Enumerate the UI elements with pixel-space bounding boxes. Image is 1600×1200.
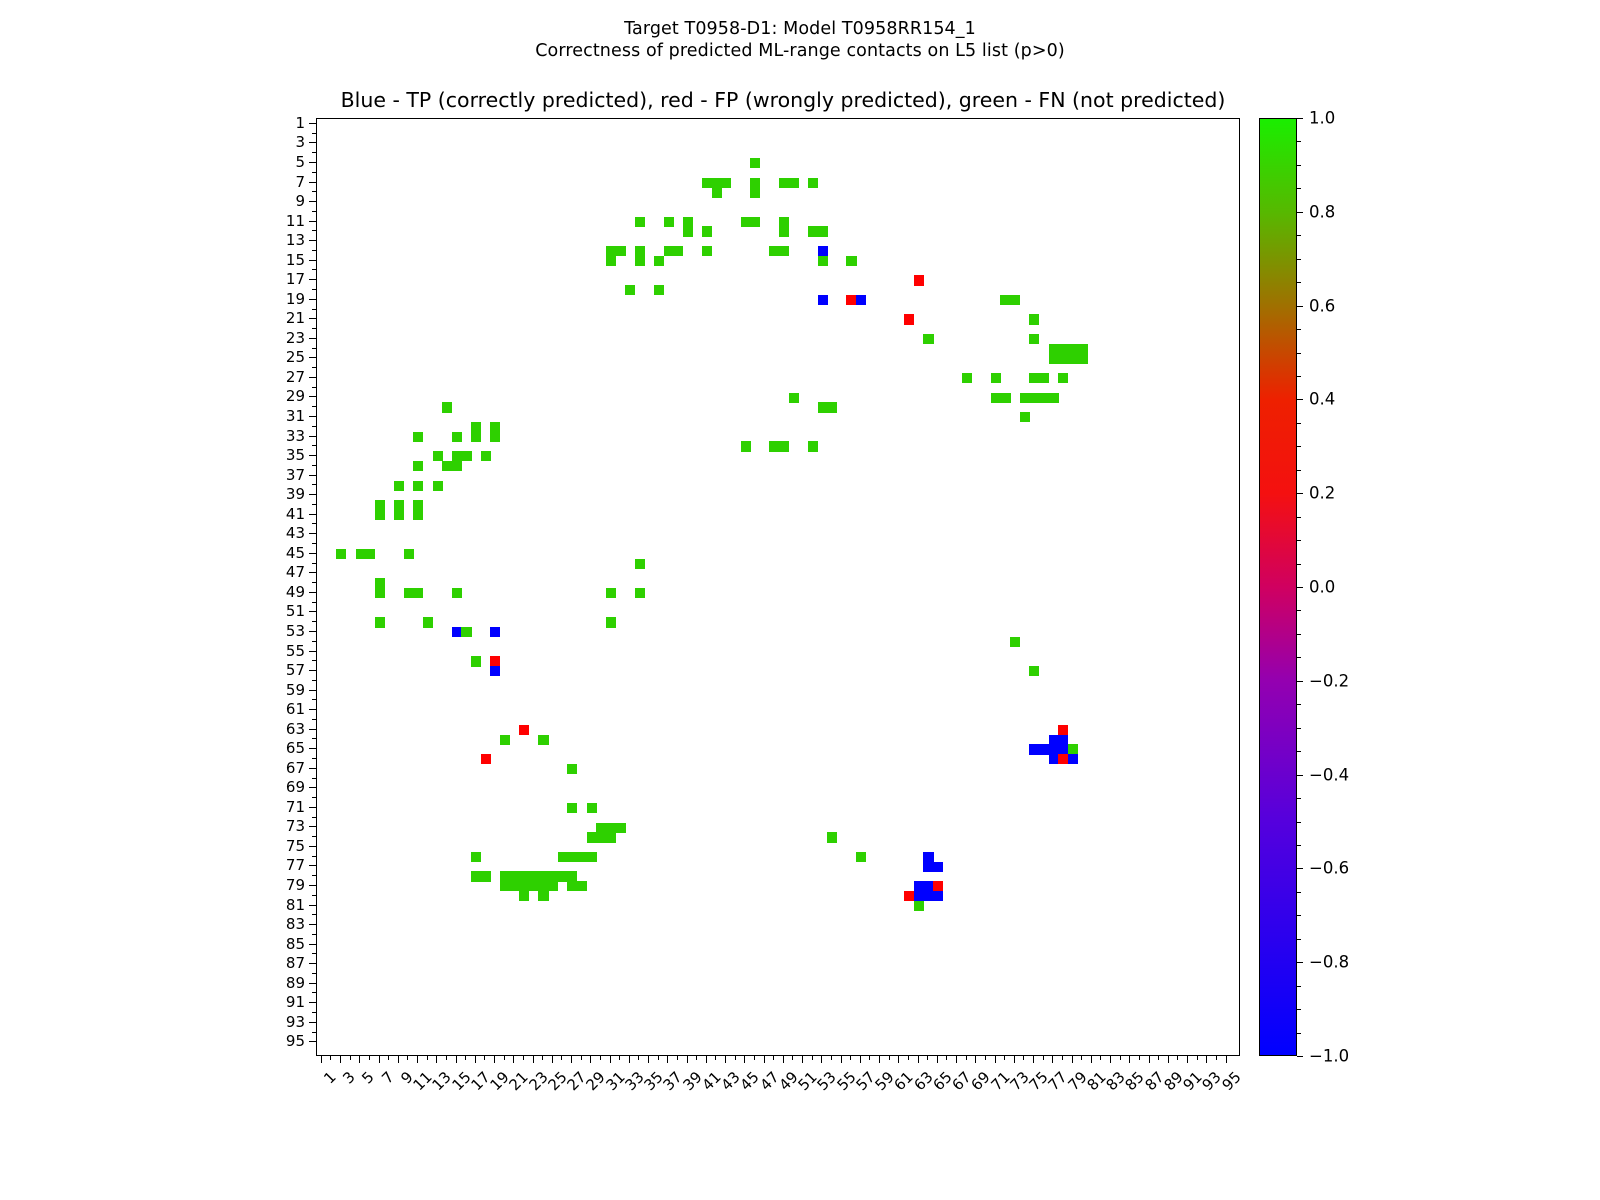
colorbar-tick-label: −0.6	[1309, 859, 1349, 878]
contact-cell-fn	[567, 764, 577, 774]
contact-cell-fn	[750, 217, 760, 227]
x-tick	[879, 1056, 880, 1063]
colorbar-tick	[1297, 306, 1303, 307]
contact-cell-fn	[481, 871, 491, 881]
y-tick	[312, 406, 316, 407]
colorbar-tick	[1297, 587, 1303, 588]
y-tick-label: 91	[286, 993, 305, 1011]
colorbar-tick	[1297, 141, 1301, 142]
y-tick	[309, 494, 316, 495]
x-tick-label: 5	[359, 1068, 378, 1087]
x-tick	[975, 1056, 976, 1063]
y-tick	[312, 836, 316, 837]
x-tick	[735, 1056, 736, 1060]
contact-cell-fn	[538, 891, 548, 901]
contact-cell-fn	[394, 500, 404, 510]
y-tick-label: 37	[286, 466, 305, 484]
y-tick-label: 27	[286, 368, 305, 386]
contact-cell-tp	[1058, 744, 1068, 754]
x-tick	[542, 1056, 543, 1060]
x-tick	[966, 1056, 967, 1060]
contact-cell-fn	[423, 617, 433, 627]
x-tick	[1014, 1056, 1015, 1063]
x-tick	[1177, 1056, 1178, 1060]
x-tick	[860, 1056, 861, 1063]
y-tick-label: 39	[286, 485, 305, 503]
x-tick	[561, 1056, 562, 1060]
x-tick	[1043, 1056, 1044, 1060]
y-tick	[312, 817, 316, 818]
y-tick-label: 81	[286, 896, 305, 914]
contact-cell-fn	[558, 871, 568, 881]
contact-cell-tp	[1049, 754, 1059, 764]
y-tick-label: 29	[286, 387, 305, 405]
contact-cell-fn	[510, 881, 520, 891]
x-tick	[340, 1056, 341, 1063]
x-tick	[1168, 1056, 1169, 1063]
contact-cell-tp	[923, 881, 933, 891]
colorbar-tick	[1297, 939, 1301, 940]
y-tick	[312, 211, 316, 212]
y-tick	[312, 758, 316, 759]
contact-cell-fn	[1039, 373, 1049, 383]
x-tick	[465, 1056, 466, 1060]
y-tick	[312, 309, 316, 310]
contact-cell-fn	[471, 871, 481, 881]
y-tick	[309, 436, 316, 437]
x-tick	[1081, 1056, 1082, 1060]
x-tick	[619, 1056, 620, 1060]
contact-cell-fp	[1058, 754, 1068, 764]
x-tick	[889, 1056, 890, 1060]
contact-cell-fn	[1029, 666, 1039, 676]
y-tick	[312, 621, 316, 622]
contact-cell-fn	[635, 217, 645, 227]
x-tick	[552, 1056, 553, 1063]
y-tick-label: 9	[295, 192, 305, 210]
contact-cell-fn	[606, 823, 616, 833]
y-tick	[309, 944, 316, 945]
contact-cell-tp	[1039, 744, 1049, 754]
contact-cell-fn	[1020, 412, 1030, 422]
contact-cell-fn	[413, 432, 423, 442]
colorbar-tick	[1297, 610, 1301, 611]
x-tick-label: 95	[1218, 1068, 1244, 1094]
x-tick	[1023, 1056, 1024, 1060]
x-tick	[687, 1056, 688, 1063]
contact-cell-fn	[1000, 295, 1010, 305]
y-tick	[309, 299, 316, 300]
y-tick	[309, 475, 316, 476]
contact-cell-fn	[471, 422, 481, 432]
contact-cell-fp	[481, 754, 491, 764]
y-tick	[312, 660, 316, 661]
y-tick-label: 55	[286, 642, 305, 660]
contact-cell-fn	[750, 158, 760, 168]
y-tick	[312, 895, 316, 896]
x-tick	[1226, 1056, 1227, 1063]
contact-cell-fn	[702, 226, 712, 236]
contact-cell-fn	[567, 803, 577, 813]
contact-cell-fn	[413, 481, 423, 491]
y-tick	[312, 934, 316, 935]
contact-cell-fn	[336, 549, 346, 559]
x-tick	[456, 1056, 457, 1063]
contact-cell-fn	[404, 549, 414, 559]
x-tick	[1206, 1056, 1207, 1063]
y-tick	[309, 142, 316, 143]
x-tick	[1139, 1056, 1140, 1060]
y-tick	[312, 426, 316, 427]
contact-cell-fn	[413, 510, 423, 520]
contact-cell-fn	[808, 441, 818, 451]
colorbar-tick	[1297, 353, 1301, 354]
y-tick	[309, 182, 316, 183]
contact-cell-fn	[808, 226, 818, 236]
x-tick	[494, 1056, 495, 1063]
y-tick	[312, 543, 316, 544]
contact-cell-fn	[596, 832, 606, 842]
x-tick	[513, 1056, 514, 1063]
x-tick	[629, 1056, 630, 1063]
y-tick	[309, 279, 316, 280]
x-tick	[898, 1056, 899, 1063]
contact-cell-fn	[394, 481, 404, 491]
y-tick-label: 47	[286, 563, 305, 581]
x-tick	[1004, 1056, 1005, 1060]
contact-cell-fp	[904, 891, 914, 901]
colorbar-tick-label: −0.8	[1309, 953, 1349, 972]
contact-cell-fn	[635, 256, 645, 266]
y-tick-label: 71	[286, 798, 305, 816]
x-tick	[1197, 1056, 1198, 1060]
x-tick	[379, 1056, 380, 1063]
x-tick	[696, 1056, 697, 1060]
colorbar-tick	[1297, 165, 1301, 166]
contact-cell-fn	[1068, 354, 1078, 364]
contact-cell-fn	[413, 500, 423, 510]
colorbar-tick	[1297, 775, 1303, 776]
colorbar-tick	[1297, 470, 1301, 471]
colorbar-tick	[1297, 1056, 1303, 1057]
contact-cell-fn	[587, 832, 597, 842]
contact-cell-fn	[606, 832, 616, 842]
contact-cell-fn	[923, 334, 933, 344]
contact-cell-tp	[1058, 735, 1068, 745]
x-tick	[1100, 1056, 1101, 1060]
contact-cell-fn	[587, 803, 597, 813]
contact-cell-fn	[683, 226, 693, 236]
x-tick	[369, 1056, 370, 1060]
y-tick-label: 59	[286, 681, 305, 699]
contact-cell-fp	[846, 295, 856, 305]
contact-cell-fn	[1068, 744, 1078, 754]
contact-cell-fn	[394, 510, 404, 520]
colorbar-tick	[1297, 868, 1303, 869]
x-tick	[841, 1056, 842, 1063]
y-tick-label: 5	[295, 153, 305, 171]
y-tick	[309, 592, 316, 593]
contact-cell-tp	[818, 246, 828, 256]
y-tick-label: 35	[286, 446, 305, 464]
y-tick	[309, 963, 316, 964]
contact-cell-tp	[856, 295, 866, 305]
contact-cell-fn	[519, 871, 529, 881]
contact-cell-fn	[683, 217, 693, 227]
y-tick	[312, 953, 316, 954]
y-tick-label: 31	[286, 407, 305, 425]
contact-cell-fn	[654, 256, 664, 266]
contact-cell-fn	[375, 578, 385, 588]
contact-cell-fn	[1058, 344, 1068, 354]
contact-cell-fn	[500, 881, 510, 891]
contact-cell-fn	[664, 246, 674, 256]
contact-cell-fn	[1058, 354, 1068, 364]
contact-cell-fn	[1039, 393, 1049, 403]
x-tick	[985, 1056, 986, 1060]
colorbar-tick	[1297, 376, 1301, 377]
contact-cell-fn	[413, 588, 423, 598]
x-tick	[937, 1056, 938, 1063]
contact-cell-fn	[461, 451, 471, 461]
x-tick	[1129, 1056, 1130, 1063]
contact-cell-fn	[635, 588, 645, 598]
contact-cell-fn	[442, 461, 452, 471]
y-tick-label: 51	[286, 602, 305, 620]
contact-cell-fn	[625, 285, 635, 295]
contact-cell-tp	[914, 881, 924, 891]
x-tick	[321, 1056, 322, 1063]
colorbar-tick	[1297, 751, 1301, 752]
x-tick	[1072, 1056, 1073, 1063]
colorbar-tick	[1297, 118, 1303, 119]
contact-cell-fn	[991, 373, 1001, 383]
y-tick	[312, 191, 316, 192]
contact-cell-fn	[1029, 393, 1039, 403]
y-tick	[309, 123, 316, 124]
y-tick	[309, 611, 316, 612]
contact-cell-fn	[856, 852, 866, 862]
y-tick-label: 79	[286, 876, 305, 894]
contact-cell-fn	[481, 451, 491, 461]
colorbar-tick	[1297, 1033, 1301, 1034]
contact-cell-fn	[452, 588, 462, 598]
contact-cell-fn	[1058, 373, 1068, 383]
contact-cell-fn	[519, 891, 529, 901]
contact-cell-fn	[1010, 637, 1020, 647]
x-tick	[407, 1056, 408, 1060]
x-tick	[436, 1056, 437, 1063]
colorbar-tick	[1297, 188, 1301, 189]
x-tick	[706, 1056, 707, 1063]
contact-cell-fn	[567, 881, 577, 891]
colorbar-tick	[1297, 329, 1301, 330]
contact-cell-fn	[356, 549, 366, 559]
y-tick	[309, 631, 316, 632]
colorbar-tick	[1297, 634, 1301, 635]
y-tick	[309, 787, 316, 788]
y-tick-label: 3	[295, 133, 305, 151]
x-tick	[581, 1056, 582, 1060]
contact-cell-fn	[375, 510, 385, 520]
y-tick	[309, 865, 316, 866]
y-tick	[312, 348, 316, 349]
y-tick	[309, 807, 316, 808]
y-tick	[309, 748, 316, 749]
y-tick	[312, 230, 316, 231]
x-tick	[484, 1056, 485, 1060]
y-tick	[309, 201, 316, 202]
contact-cell-fn	[490, 432, 500, 442]
y-tick	[312, 797, 316, 798]
contact-cell-fn	[1029, 334, 1039, 344]
x-tick	[667, 1056, 668, 1063]
y-tick	[309, 905, 316, 906]
contact-cell-fn	[712, 178, 722, 188]
colorbar-tick	[1297, 235, 1301, 236]
y-tick-label: 65	[286, 739, 305, 757]
x-tick	[927, 1056, 928, 1060]
contact-cell-fn	[1029, 314, 1039, 324]
colorbar-tick	[1297, 399, 1303, 400]
contact-cell-fn	[471, 432, 481, 442]
contact-cell-fn	[702, 178, 712, 188]
y-tick-label: 67	[286, 759, 305, 777]
contact-cell-fn	[1029, 373, 1039, 383]
y-tick	[309, 162, 316, 163]
y-tick	[309, 396, 316, 397]
contact-cell-fn	[741, 441, 751, 451]
x-tick	[1158, 1056, 1159, 1060]
y-tick	[312, 778, 316, 779]
x-tick	[773, 1056, 774, 1060]
contact-cell-fn	[769, 441, 779, 451]
y-tick	[312, 387, 316, 388]
contact-cell-fn	[789, 178, 799, 188]
contact-cell-fn	[490, 422, 500, 432]
contact-cell-fn	[750, 178, 760, 188]
x-tick	[1110, 1056, 1111, 1063]
y-tick-label: 7	[295, 173, 305, 191]
contact-cell-tp	[490, 666, 500, 676]
x-tick	[1187, 1056, 1188, 1063]
colorbar-gradient	[1259, 118, 1297, 1056]
y-tick-label: 87	[286, 954, 305, 972]
colorbar-tick-label: 0.6	[1309, 296, 1335, 315]
contact-cell-fn	[413, 461, 423, 471]
y-tick-label: 61	[286, 700, 305, 718]
y-tick-label: 45	[286, 544, 305, 562]
contact-cell-fn	[818, 226, 828, 236]
contact-cell-fn	[529, 871, 539, 881]
x-tick	[427, 1056, 428, 1060]
contact-cell-fp	[904, 314, 914, 324]
y-tick	[309, 885, 316, 886]
colorbar-tick	[1297, 986, 1301, 987]
contact-cell-tp	[1049, 744, 1059, 754]
contact-cell-fn	[375, 617, 385, 627]
x-tick	[398, 1056, 399, 1063]
y-tick-label: 43	[286, 524, 305, 542]
y-tick	[309, 670, 316, 671]
contact-cell-fn	[452, 432, 462, 442]
colorbar-tick	[1297, 681, 1303, 682]
contact-cell-tp	[914, 891, 924, 901]
contact-cell-fn	[779, 217, 789, 227]
contact-cell-fn	[846, 256, 856, 266]
contact-cell-fn	[779, 226, 789, 236]
y-tick	[309, 1002, 316, 1003]
y-tick-label: 93	[286, 1013, 305, 1031]
contact-cell-fn	[779, 246, 789, 256]
x-tick	[533, 1056, 534, 1063]
y-tick	[309, 768, 316, 769]
x-tick	[1062, 1056, 1063, 1060]
contact-cell-fn	[558, 852, 568, 862]
y-tick	[312, 445, 316, 446]
x-tick	[792, 1056, 793, 1060]
contact-cell-fn	[538, 871, 548, 881]
colorbar-tick	[1297, 540, 1301, 541]
colorbar-tick-label: −0.2	[1309, 671, 1349, 690]
x-tick	[417, 1056, 418, 1063]
y-tick-label: 1	[295, 114, 305, 132]
x-tick	[1149, 1056, 1150, 1063]
contact-cell-fn	[500, 735, 510, 745]
colorbar-tick	[1297, 212, 1303, 213]
y-tick	[309, 377, 316, 378]
y-tick-label: 13	[286, 231, 305, 249]
colorbar-tick	[1297, 962, 1303, 963]
x-tick	[658, 1056, 659, 1060]
contact-cell-fn	[827, 832, 837, 842]
y-tick	[312, 523, 316, 524]
contact-cell-fn	[500, 871, 510, 881]
contact-cell-fn	[404, 588, 414, 598]
contact-cell-fp	[1058, 725, 1068, 735]
x-tick	[1052, 1056, 1053, 1063]
y-tick-label: 15	[286, 251, 305, 269]
contact-cell-fn	[433, 481, 443, 491]
x-tick	[918, 1056, 919, 1063]
contact-cell-fn	[779, 178, 789, 188]
contact-cell-fn	[548, 871, 558, 881]
contact-cell-tp	[1068, 754, 1078, 764]
contact-cell-fn	[808, 178, 818, 188]
contact-cell-fn	[615, 246, 625, 256]
y-tick	[312, 738, 316, 739]
x-tick	[504, 1056, 505, 1060]
contact-cell-fn	[606, 246, 616, 256]
colorbar-tick	[1297, 704, 1301, 705]
y-tick	[312, 152, 316, 153]
y-tick	[312, 133, 316, 134]
colorbar-tick	[1297, 915, 1301, 916]
y-tick-label: 69	[286, 778, 305, 796]
y-tick	[309, 651, 316, 652]
x-tick	[600, 1056, 601, 1060]
contact-cell-fn	[654, 285, 664, 295]
contact-cell-fn	[452, 451, 462, 461]
x-tick	[869, 1056, 870, 1060]
contact-cell-fn	[1077, 354, 1087, 364]
x-tick	[1216, 1056, 1217, 1060]
colorbar-tick	[1297, 892, 1301, 893]
y-tick	[312, 602, 316, 603]
contact-cell-fn	[587, 852, 597, 862]
y-tick	[309, 924, 316, 925]
x-tick	[956, 1056, 957, 1063]
